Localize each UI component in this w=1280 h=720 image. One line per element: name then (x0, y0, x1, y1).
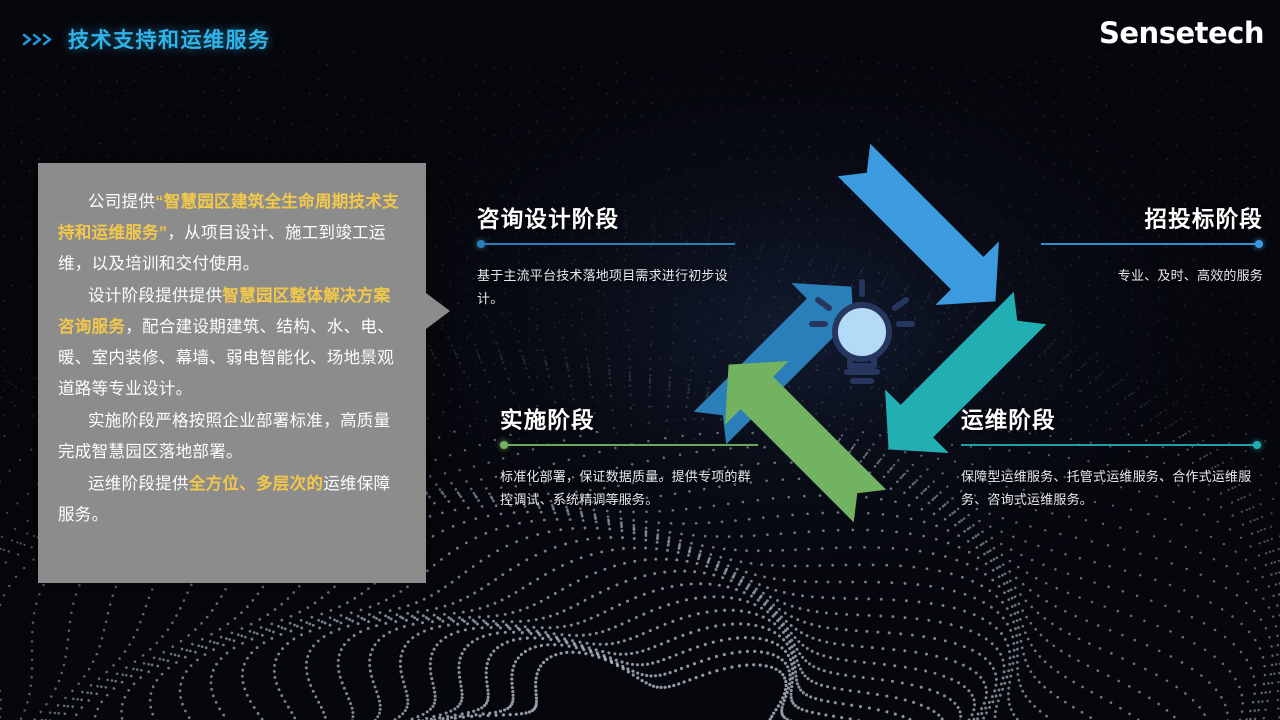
panel-paragraph-4: 运维阶段提供全方位、多层次的运维保障服务。 (58, 469, 404, 531)
stage-title-impl: 实施阶段 (500, 403, 758, 435)
rule-dot (500, 441, 508, 449)
stage-rule-bid (1041, 243, 1263, 245)
panel-highlight-text: 全方位、多层次的 (189, 475, 323, 493)
stage-desc-consult: 基于主流平台技术落地项目需求进行初步设计。 (477, 264, 735, 310)
stage-title-bid: 招投标阶段 (1041, 202, 1263, 234)
double-chevron-right-icon (22, 32, 56, 47)
brand-logo: Sensetech (1099, 16, 1264, 50)
description-panel-text: 公司提供“智慧园区建筑全生命周期技术支持和运维服务”，从项目设计、施工到竣工运维… (38, 163, 426, 583)
stage-block-ops: 运维阶段 保障型运维服务、托管式运维服务、合作式运维服务、咨询式运维服务。 (961, 403, 1261, 511)
panel-paragraph-1: 公司提供“智慧园区建筑全生命周期技术支持和运维服务”，从项目设计、施工到竣工运维… (58, 187, 404, 280)
stage-title-consult: 咨询设计阶段 (477, 202, 735, 234)
panel-paragraph-3: 实施阶段严格按照企业部署标准，高质量完成智慧园区落地部署。 (58, 406, 404, 468)
stage-block-consult: 咨询设计阶段 基于主流平台技术落地项目需求进行初步设计。 (477, 202, 735, 310)
page-title: 技术支持和运维服务 (68, 24, 271, 54)
rule-dot (1253, 441, 1261, 449)
rule-bar (1041, 243, 1263, 245)
panel-paragraph-2: 设计阶段提供提供智慧园区整体解决方案咨询服务，配合建设期建筑、结构、水、电、暖、… (58, 281, 404, 405)
panel-plain-text: 运维阶段提供 (88, 475, 189, 493)
slide-header: 技术支持和运维服务 Sensetech (0, 0, 1280, 62)
stage-desc-ops: 保障型运维服务、托管式运维服务、合作式运维服务、咨询式运维服务。 (961, 465, 1261, 511)
stage-desc-impl: 标准化部署，保证数据质量。提供专项的群控调试、系统精调等服务。 (500, 465, 758, 511)
rule-bar (477, 243, 735, 245)
bidding-arrow (822, 128, 1027, 333)
description-panel-wrapper: 公司提供“智慧园区建筑全生命周期技术支持和运维服务”，从项目设计、施工到竣工运维… (38, 163, 458, 585)
stage-rule-consult (477, 243, 735, 245)
rule-bar (500, 444, 758, 446)
panel-plain-text: 实施阶段严格按照企业部署标准，高质量完成智慧园区落地部署。 (58, 412, 390, 461)
panel-pointer-triangle (426, 293, 450, 329)
stage-title-ops: 运维阶段 (961, 403, 1261, 435)
rule-bar (961, 444, 1261, 446)
panel-plain-text: 设计阶段提供提供 (88, 287, 222, 305)
stage-rule-ops (961, 444, 1261, 446)
stage-block-bid: 招投标阶段 专业、及时、高效的服务 (1041, 202, 1263, 287)
rule-dot (1255, 240, 1263, 248)
header-left-group: 技术支持和运维服务 (22, 24, 271, 54)
slide-canvas: 技术支持和运维服务 Sensetech (0, 0, 1280, 720)
panel-plain-text: 公司提供 (88, 193, 155, 211)
rule-dot (477, 240, 485, 248)
stage-desc-bid: 专业、及时、高效的服务 (1041, 264, 1263, 287)
stage-block-impl: 实施阶段 标准化部署，保证数据质量。提供专项的群控调试、系统精调等服务。 (500, 403, 758, 511)
stage-rule-impl (500, 444, 758, 446)
